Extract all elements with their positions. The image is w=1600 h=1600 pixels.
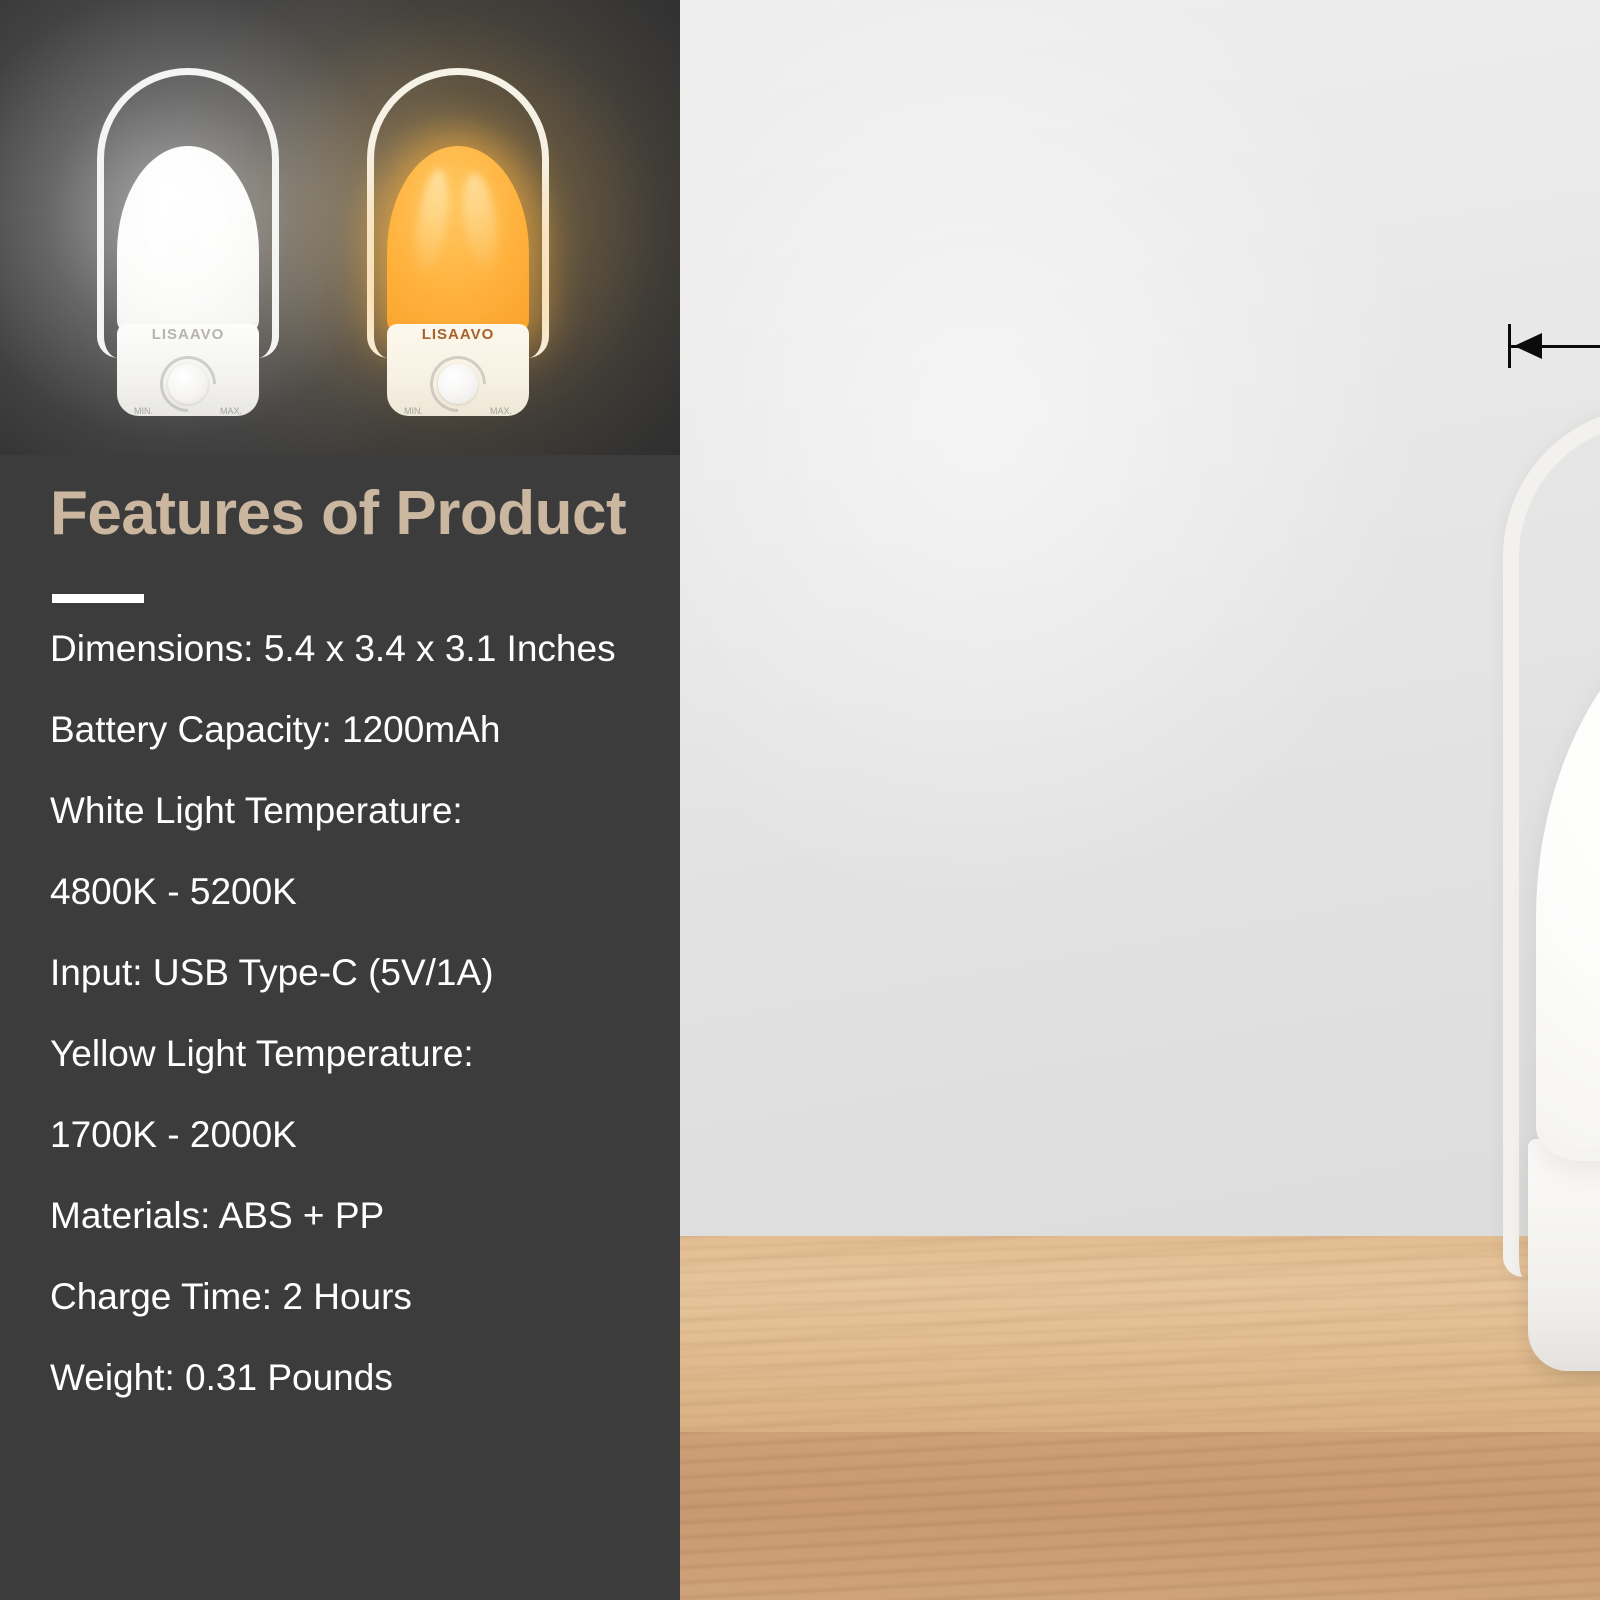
dial-min-label: MIN. [134,406,153,416]
product-base [1528,1139,1600,1371]
lantern-dial-scale: MIN. MAX. [404,406,512,416]
feature-item: White Light Temperature: [50,792,670,829]
width-dimension-line [1508,345,1600,347]
feature-item: Input: USB Type-C (5V/1A) [50,954,670,991]
title-underline-rule [52,594,144,603]
features-title: Features of Product [50,478,626,549]
lantern-dial-knob[interactable] [438,364,478,404]
table-surface [680,1236,1600,1432]
lantern-dial-scale: MIN. MAX. [134,406,242,416]
specs-panel: LISAAVO MIN. MAX. LISAAVO [0,0,680,1600]
feature-item: Weight: 0.31 Pounds [50,1359,670,1396]
dial-min-label: MIN. [404,406,423,416]
feature-item: 4800K - 5200K [50,873,670,910]
product-brand-logo: LISAAVO [1528,1090,1600,1132]
feature-item: Yellow Light Temperature: [50,1035,670,1072]
feature-item: Battery Capacity: 1200mAh [50,711,670,748]
table-edge [680,1432,1600,1600]
lantern-thumbnails-strip: LISAAVO MIN. MAX. LISAAVO [0,0,680,455]
feature-item: Dimensions: 5.4 x 3.4 x 3.1 Inches [50,630,670,667]
lantern-thumbnail-yellow-light: LISAAVO MIN. MAX. [358,68,558,420]
product-photo-panel: LISAAVO MIN. MAX. 3.4in 5.4in [680,0,1600,1600]
feature-item: Charge Time: 2 Hours [50,1278,670,1315]
features-list: Dimensions: 5.4 x 3.4 x 3.1 Inches Batte… [50,630,670,1440]
lantern-brand-logo: LISAAVO [358,326,558,343]
dial-max-label: MAX. [490,406,512,416]
lantern-brand-logo: LISAAVO [88,326,288,343]
lantern-dial-knob[interactable] [168,364,208,404]
feature-item: Materials: ABS + PP [50,1197,670,1234]
lantern-thumbnail-white-light: LISAAVO MIN. MAX. [88,68,288,420]
wall-background [680,0,1600,1236]
dial-max-label: MAX. [220,406,242,416]
feature-item: 1700K - 2000K [50,1116,670,1153]
arrow-left-icon [1514,333,1542,359]
product-infographic: LISAAVO MIN. MAX. LISAAVO [0,0,1600,1600]
